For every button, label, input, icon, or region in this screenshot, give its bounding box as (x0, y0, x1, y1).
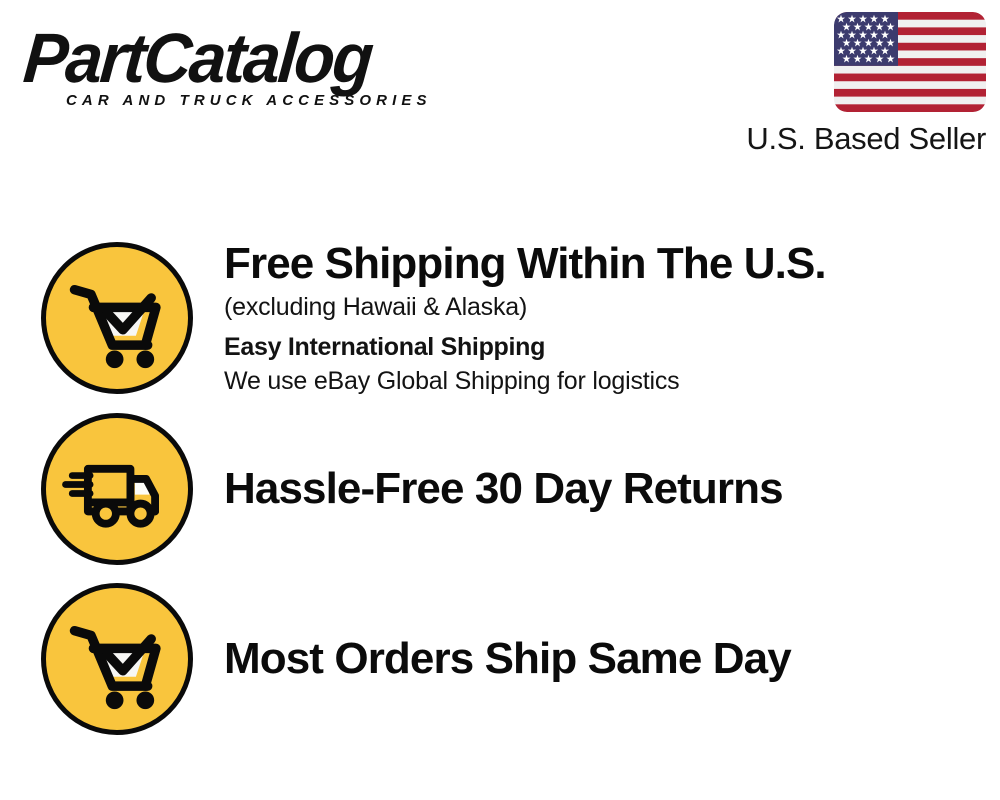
feature-title: Free Shipping Within The U.S. (224, 238, 980, 290)
feature-subtitle-logistics: We use eBay Global Shipping for logistic… (224, 365, 980, 398)
feature-text-block: Most Orders Ship Same Day (224, 633, 1000, 685)
feature-row: Hassle-Free 30 Day Returns (0, 410, 1000, 568)
feature-title: Most Orders Ship Same Day (224, 633, 980, 685)
feature-subtitle-international: Easy International Shipping (224, 331, 980, 364)
feature-text-block: Hassle-Free 30 Day Returns (224, 463, 1000, 515)
brand-wordmark: PartCatalog (21, 22, 473, 94)
feature-row: Most Orders Ship Same Day (0, 580, 1000, 738)
us-flag-icon (834, 12, 986, 112)
delivery-truck-icon (41, 413, 193, 565)
shopping-cart-check-icon (41, 583, 193, 735)
feature-row: Free Shipping Within The U.S. (excluding… (0, 232, 1000, 404)
us-based-seller-label: U.S. Based Seller (696, 121, 986, 157)
shopping-cart-check-icon (41, 242, 193, 394)
us-based-seller-badge: U.S. Based Seller (696, 12, 986, 157)
feature-title: Hassle-Free 30 Day Returns (224, 463, 980, 515)
page-header: PartCatalog CAR AND TRUCK ACCESSORIES (0, 0, 1000, 175)
feature-text-block: Free Shipping Within The U.S. (excluding… (224, 238, 1000, 398)
feature-subtitle-exclusions: (excluding Hawaii & Alaska) (224, 291, 980, 324)
brand-logo: PartCatalog CAR AND TRUCK ACCESSORIES (24, 22, 494, 109)
